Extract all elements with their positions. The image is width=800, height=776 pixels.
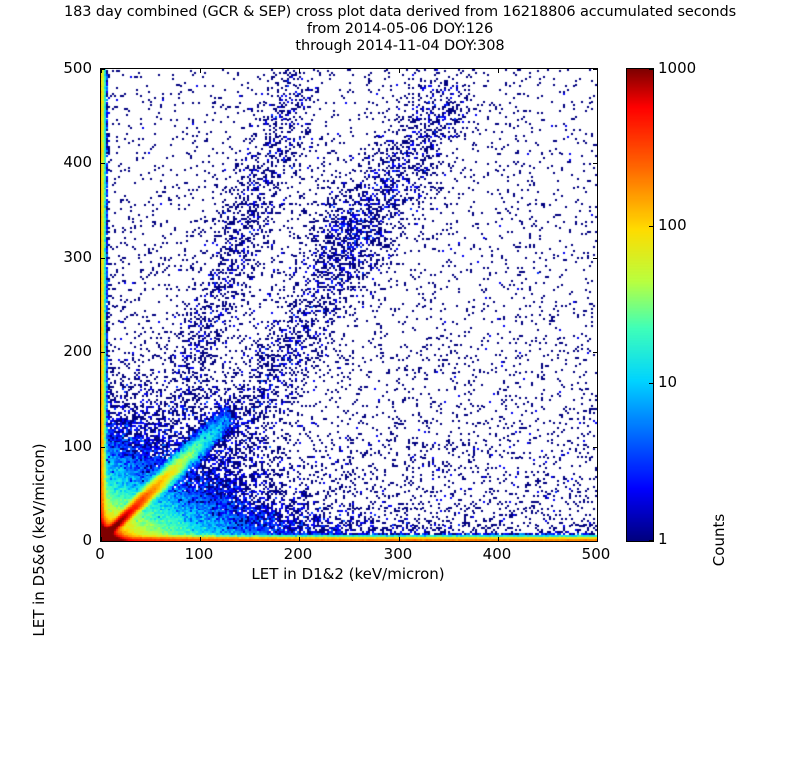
x-axis-tick (399, 69, 400, 73)
y-axis-tick (593, 69, 597, 70)
y-axis-tick (101, 447, 105, 448)
colorbar-ticklabel: 100 (658, 216, 687, 234)
title-line-2: from 2014-05-06 DOY:126 (0, 21, 800, 38)
y-axis-tick (593, 352, 597, 353)
x-axis-tick (498, 537, 499, 541)
x-axis-ticklabel: 0 (95, 545, 105, 563)
colorbar-tick (649, 226, 653, 227)
y-axis-tick (593, 163, 597, 164)
y-axis-ticklabel: 0 (82, 531, 92, 549)
y-axis-ticklabel: 300 (63, 248, 92, 266)
title-line-1: 183 day combined (GCR & SEP) cross plot … (0, 4, 800, 21)
colorbar-tick (649, 69, 653, 70)
x-axis-tick (498, 69, 499, 73)
y-axis-tick (101, 541, 105, 542)
x-axis-tick (299, 537, 300, 541)
colorbar-label: Counts (710, 304, 730, 776)
y-axis-tick (593, 447, 597, 448)
colorbar-ticklabel: 1000 (658, 59, 696, 77)
x-axis-tick (200, 69, 201, 73)
x-axis-label: LET in D1&2 (keV/micron) (100, 565, 596, 583)
y-axis-label: LET in D5&6 (keV/micron) (30, 304, 50, 776)
x-axis-tick (399, 537, 400, 541)
heatmap-data-layer (101, 69, 597, 541)
plot-title: 183 day combined (GCR & SEP) cross plot … (0, 4, 800, 55)
y-axis-ticklabel: 200 (63, 342, 92, 360)
x-axis-tick (597, 537, 598, 541)
y-axis-tick (101, 258, 105, 259)
x-axis-tick (597, 69, 598, 73)
colorbar-gradient (627, 69, 653, 541)
x-axis-ticklabel: 300 (384, 545, 413, 563)
x-axis-tick (200, 537, 201, 541)
x-axis-tick (299, 69, 300, 73)
y-axis-tick (101, 163, 105, 164)
y-axis-tick (593, 541, 597, 542)
x-axis-ticklabel: 500 (582, 545, 611, 563)
plot-axes (100, 68, 598, 542)
title-line-3: through 2014-11-04 DOY:308 (0, 38, 800, 55)
y-axis-ticklabel: 100 (63, 437, 92, 455)
colorbar-ticklabel: 10 (658, 373, 677, 391)
y-axis-ticklabel: 500 (63, 59, 92, 77)
colorbar (626, 68, 654, 542)
y-axis-tick (593, 258, 597, 259)
x-axis-ticklabel: 200 (284, 545, 313, 563)
y-axis-ticklabel: 400 (63, 153, 92, 171)
y-axis-tick (101, 69, 105, 70)
y-axis-tick (101, 352, 105, 353)
colorbar-tick (649, 383, 653, 384)
x-axis-ticklabel: 100 (185, 545, 214, 563)
colorbar-tick (649, 540, 653, 541)
figure-canvas: 183 day combined (GCR & SEP) cross plot … (0, 0, 800, 600)
x-axis-ticklabel: 400 (483, 545, 512, 563)
colorbar-ticklabel: 1 (658, 530, 668, 548)
